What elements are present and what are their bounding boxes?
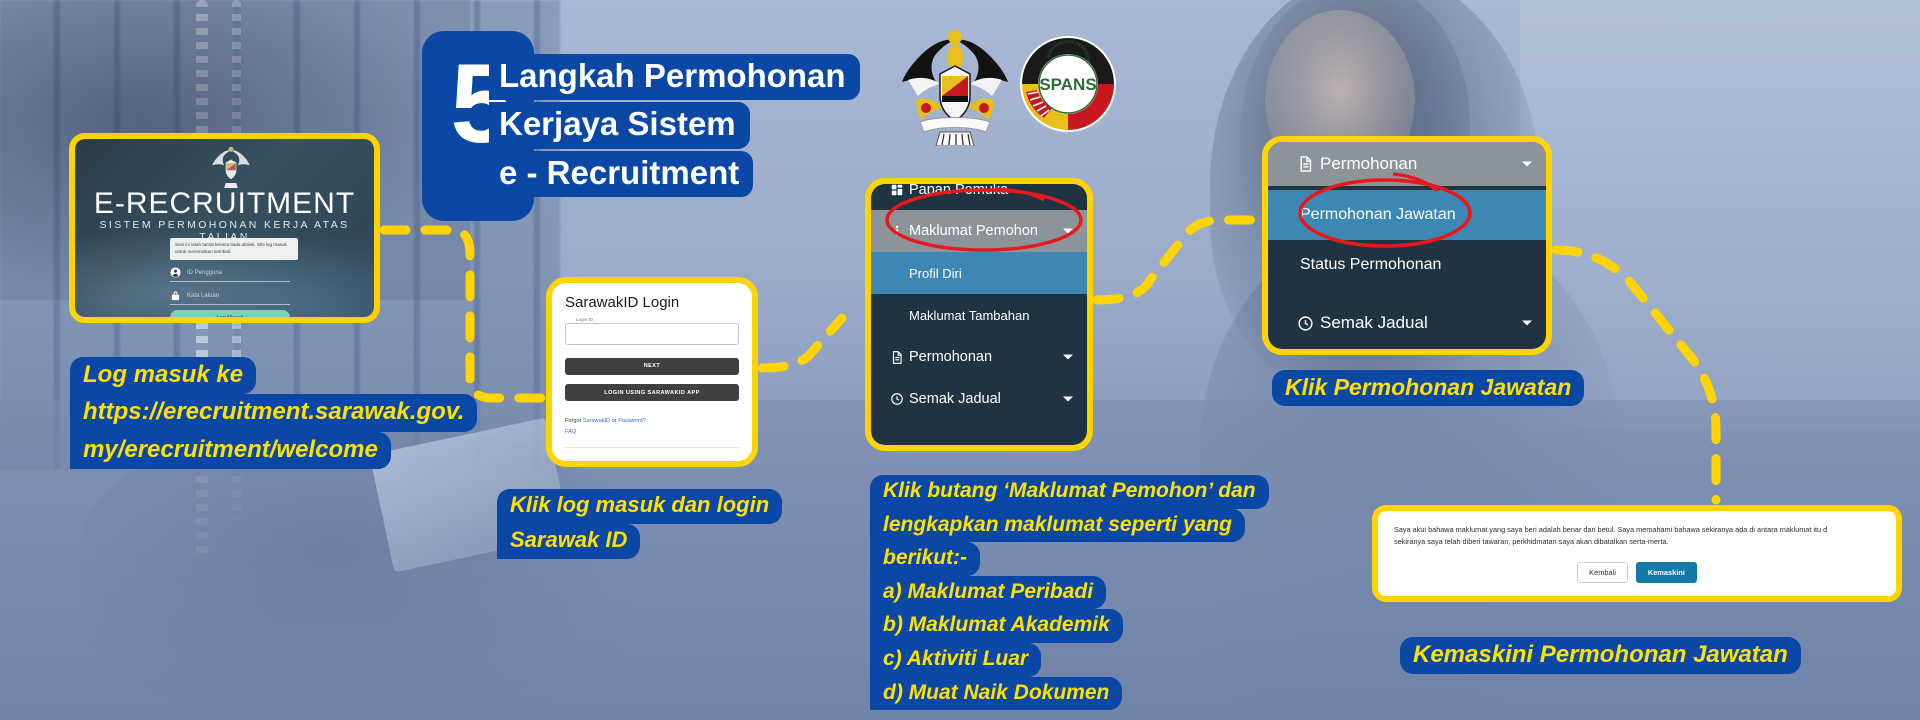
erecruitment-password-field[interactable]: Kata Laluan bbox=[170, 287, 290, 305]
document-icon bbox=[1290, 155, 1320, 173]
sarawakid-loginid-wrapper: Login ID bbox=[565, 322, 739, 344]
sarawakid-card-body: SarawakID Login Login ID NEXT LOGIN USIN… bbox=[552, 283, 752, 461]
erecruitment-login-button[interactable]: Log Masuk bbox=[170, 310, 290, 323]
document-icon bbox=[885, 350, 909, 365]
kembali-button[interactable]: Kembali bbox=[1577, 562, 1628, 583]
middle-menu-body: Papan Pemuka Maklumat Pemohon Profil Dir… bbox=[871, 184, 1087, 445]
chevron-down-icon[interactable] bbox=[1522, 321, 1532, 326]
caption-kemaskini-permohonan-jawatan: Kemaskini Permohonan Jawatan bbox=[1400, 637, 1801, 674]
caption-line: Klik butang ‘Maklumat Pemohon’ dan bbox=[870, 475, 1269, 509]
forgot-sarawakid-link[interactable]: SarawakID bbox=[583, 418, 610, 424]
declaration-dialog-buttons: Kembali Kemaskini bbox=[1394, 562, 1880, 583]
sarawakid-title: SarawakID Login bbox=[565, 294, 739, 311]
info-icon bbox=[885, 224, 909, 238]
caption-line: my/erecruitment/welcome bbox=[70, 432, 391, 469]
caption-klik-permohonan-jawatan: Klik Permohonan Jawatan bbox=[1272, 370, 1584, 406]
caption-login-url: Log masuk ke https://erecruitment.sarawa… bbox=[70, 357, 477, 469]
menu-label: Semak Jadual bbox=[909, 391, 1001, 407]
menu-label: Permohonan bbox=[909, 349, 992, 365]
sarawakid-forgot-line: Forgot SarawakID or Password? bbox=[565, 416, 739, 427]
erecruitment-title: E-RECRUITMENT bbox=[75, 187, 374, 221]
menu-label: Maklumat Pemohon bbox=[909, 223, 1038, 239]
kemaskini-button[interactable]: Kemaskini bbox=[1636, 562, 1697, 583]
sarawak-coat-of-arms-icon bbox=[896, 22, 1014, 146]
sarawaknet-login-link[interactable]: Login with SarawakNet bbox=[565, 465, 622, 467]
declaration-text-line-2: sekiranya saya telah diberi tawaran, per… bbox=[1394, 536, 1880, 548]
menu-item-maklumat-pemohon[interactable]: Maklumat Pemohon bbox=[871, 210, 1087, 252]
erecruitment-userid-field[interactable]: ID Pengguna bbox=[170, 264, 290, 282]
chevron-down-icon[interactable] bbox=[1522, 162, 1532, 167]
menu-item-permohonan[interactable]: Permohonan bbox=[871, 336, 1087, 378]
title-line-1: Langkah Permohonan bbox=[489, 54, 860, 100]
chevron-down-icon[interactable] bbox=[1063, 397, 1073, 402]
caption-line: a) Maklumat Peribadi bbox=[870, 576, 1106, 610]
clock-icon bbox=[885, 392, 909, 406]
caption-line: Klik log masuk dan login bbox=[497, 489, 782, 524]
sarawak-coat-of-arms-icon bbox=[210, 144, 252, 188]
caption-line: Log masuk ke bbox=[70, 357, 256, 394]
clock-icon bbox=[1290, 315, 1320, 332]
infographic-canvas: PROJ 5 Langkah Permohonan Kerjaya Sistem… bbox=[0, 0, 1920, 720]
erecruitment-login-screenshot: E-RECRUITMENT SISTEM PERMOHONAN KERJA AT… bbox=[69, 133, 380, 323]
declaration-dialog-screenshot: Saya akui bahawa maklumat yang saya beri… bbox=[1372, 505, 1902, 602]
menu-item-permohonan[interactable]: Permohonan bbox=[1268, 142, 1546, 186]
menu-label: Semak Jadual bbox=[1320, 313, 1428, 333]
menu-item-status-permohonan[interactable]: Status Permohonan bbox=[1268, 240, 1546, 290]
erecruitment-password-placeholder: Kata Laluan bbox=[187, 293, 219, 299]
user-circle-icon bbox=[170, 267, 181, 278]
declaration-dialog-body: Saya akui bahawa maklumat yang saya beri… bbox=[1378, 511, 1896, 596]
menu-item-semak-jadual[interactable]: Semak Jadual bbox=[871, 378, 1087, 420]
caption-line: b) Maklumat Akademik bbox=[870, 609, 1123, 643]
menu-label: Status Permohonan bbox=[1300, 256, 1441, 274]
caption-line: https://erecruitment.sarawak.gov. bbox=[70, 394, 477, 431]
caption-line: Klik Permohonan Jawatan bbox=[1272, 370, 1584, 406]
menu-label: Papan Pemuka bbox=[909, 182, 1008, 198]
sarawakid-loginid-label: Login ID bbox=[573, 317, 596, 322]
spans-logo-text: SPANS bbox=[1039, 75, 1096, 94]
chevron-down-icon[interactable] bbox=[1063, 229, 1073, 234]
caption-click-login: Klik log masuk dan login Sarawak ID bbox=[497, 489, 782, 559]
caption-line: berikut:- bbox=[870, 542, 980, 576]
menu-item-maklumat-tambahan[interactable]: Maklumat Tambahan bbox=[871, 294, 1087, 336]
sarawakid-loginid-input[interactable] bbox=[565, 323, 739, 345]
caption-line: d) Muat Naik Dokumen bbox=[870, 677, 1122, 711]
middle-sidebar-menu-screenshot: Papan Pemuka Maklumat Pemohon Profil Dir… bbox=[865, 178, 1093, 451]
forgot-label: Forgot bbox=[565, 418, 581, 424]
caption-line: Sarawak ID bbox=[497, 524, 640, 559]
lock-icon bbox=[170, 290, 181, 301]
title-line-2: Kerjaya Sistem bbox=[489, 102, 750, 148]
menu-label: Permohonan bbox=[1320, 154, 1417, 174]
session-expired-note: Sesi ini telah tamat kerana tiada aktivi… bbox=[170, 238, 298, 260]
declaration-text-line-1: Saya akui bahawa maklumat yang saya beri… bbox=[1394, 524, 1880, 536]
dashboard-icon bbox=[885, 183, 909, 197]
chevron-down-icon[interactable] bbox=[1063, 355, 1073, 360]
caption-line: lengkapkan maklumat seperti yang bbox=[870, 509, 1245, 543]
caption-line: c) Aktiviti Luar bbox=[870, 643, 1041, 677]
faq-link[interactable]: FAQ bbox=[565, 429, 576, 435]
menu-item-papan-pemuka[interactable]: Papan Pemuka bbox=[871, 178, 1087, 210]
sarawakid-divider bbox=[565, 447, 739, 448]
caption-maklumat-pemohon-steps: Klik butang ‘Maklumat Pemohon’ dan lengk… bbox=[870, 475, 1269, 710]
sarawakid-links: Forgot SarawakID or Password? FAQ bbox=[565, 416, 739, 437]
menu-item-semak-jadual[interactable]: Semak Jadual bbox=[1268, 298, 1546, 348]
right-sidebar-menu-screenshot: Permohonan Permohonan Jawatan Status Per… bbox=[1262, 136, 1552, 355]
menu-item-permohonan-jawatan[interactable]: Permohonan Jawatan bbox=[1268, 190, 1546, 240]
menu-label: Permohonan Jawatan bbox=[1300, 206, 1456, 224]
sarawakid-next-button[interactable]: NEXT bbox=[565, 358, 739, 375]
caption-line: Kemaskini Permohonan Jawatan bbox=[1400, 637, 1801, 674]
menu-label: Profil Diri bbox=[909, 266, 962, 281]
erecruitment-userid-placeholder: ID Pengguna bbox=[187, 270, 222, 276]
title-line-3: e - Recruitment bbox=[489, 151, 753, 197]
forgot-or-label: or bbox=[612, 418, 617, 424]
sarawakid-app-login-button[interactable]: LOGIN USING SARAWAKID APP bbox=[565, 384, 739, 401]
right-menu-body: Permohonan Permohonan Jawatan Status Per… bbox=[1268, 142, 1546, 349]
forgot-password-link[interactable]: Password? bbox=[618, 418, 646, 424]
title-block: Langkah Permohonan Kerjaya Sistem e - Re… bbox=[489, 54, 909, 199]
menu-label: Maklumat Tambahan bbox=[909, 308, 1029, 323]
sarawakid-login-screenshot: SarawakID Login Login ID NEXT LOGIN USIN… bbox=[546, 277, 758, 467]
spans-logo-icon: SPANS SURUHANJAYA PERKHIDMATAN AWAM bbox=[1018, 34, 1118, 134]
menu-item-profil-diri[interactable]: Profil Diri bbox=[871, 252, 1087, 294]
